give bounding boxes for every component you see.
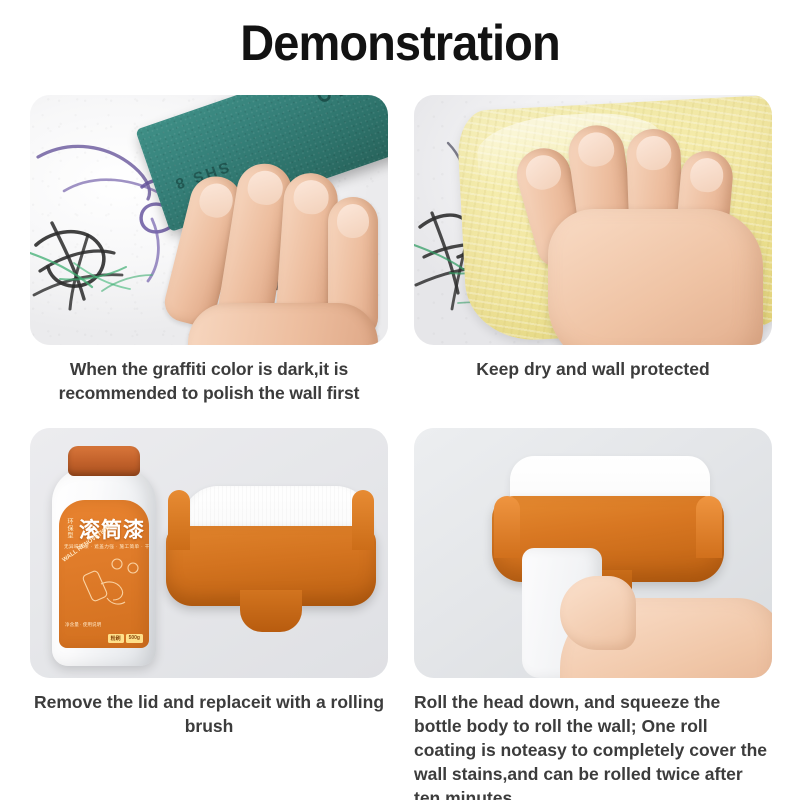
palm-icon xyxy=(188,303,378,345)
badge-type: 粉刷 xyxy=(108,634,124,643)
demo-grid: QBTAO SHS 8 When the graffiti color is d… xyxy=(0,95,800,728)
page-title: Demonstration xyxy=(24,14,776,72)
roller-arm-left-icon xyxy=(494,496,520,558)
demo-cell-bottle-roller: 环保型 滚筒漆 无异味环保 · 遮盖力强 · 施工简单 · 干燥快速 xyxy=(30,428,388,738)
photo-rolling xyxy=(414,428,772,678)
roller-arm-right-icon xyxy=(352,490,374,550)
bottle-label-icon: 环保型 滚筒漆 无异味环保 · 遮盖力强 · 施工简单 · 干燥快速 xyxy=(59,500,149,648)
roller-brush-icon xyxy=(166,486,376,646)
demonstration-page: Demonstration xyxy=(0,0,800,800)
hand-icon xyxy=(526,123,772,345)
label-side-text: 环保型 xyxy=(65,518,72,539)
fingernail-icon xyxy=(245,168,285,207)
photo-sanding: QBTAO SHS 8 xyxy=(30,95,388,345)
photo-bottle-roller: 环保型 滚筒漆 无异味环保 · 遮盖力强 · 施工简单 · 干燥快速 xyxy=(30,428,388,678)
bottle-cap-icon xyxy=(68,446,140,476)
hand-icon xyxy=(560,576,772,678)
demo-cell-rolling: Roll the head down, and squeeze the bott… xyxy=(414,428,772,800)
roller-arm-right-icon xyxy=(696,496,722,558)
label-badge-group: 粉刷 500g xyxy=(108,634,143,643)
palm-icon xyxy=(548,209,763,345)
fingernail-icon xyxy=(337,204,369,238)
badge-weight: 500g xyxy=(126,634,143,643)
fingernail-icon xyxy=(636,135,672,170)
fingernail-icon xyxy=(292,179,329,215)
demo-row-1: QBTAO SHS 8 When the graffiti color is d… xyxy=(0,95,800,385)
thumb-icon xyxy=(560,576,636,650)
roller-neck-icon xyxy=(240,590,302,632)
paint-bottle-icon: 环保型 滚筒漆 无异味环保 · 遮盖力强 · 施工简单 · 干燥快速 xyxy=(52,446,156,666)
fingernail-icon xyxy=(576,130,616,169)
caption-wiping: Keep dry and wall protected xyxy=(414,357,772,381)
fingernail-icon xyxy=(522,151,565,193)
caption-rolling: Roll the head down, and squeeze the bott… xyxy=(414,690,772,800)
photo-wiping xyxy=(414,95,772,345)
roller-arm-left-icon xyxy=(168,490,190,550)
label-footer-text: 净含量 · 使用说明 xyxy=(65,621,101,628)
label-illustration-icon xyxy=(63,554,145,618)
fingernail-icon xyxy=(196,180,237,221)
demo-row-2: 环保型 滚筒漆 无异味环保 · 遮盖力强 · 施工简单 · 干燥快速 xyxy=(0,428,800,728)
caption-sanding: When the graffiti color is dark,it is re… xyxy=(30,357,388,405)
demo-cell-wiping: Keep dry and wall protected xyxy=(414,95,772,381)
fingernail-icon xyxy=(689,157,725,194)
caption-bottle-roller: Remove the lid and replaceit with a roll… xyxy=(30,690,388,738)
hand-icon xyxy=(168,163,388,345)
demo-cell-sanding: QBTAO SHS 8 When the graffiti color is d… xyxy=(30,95,388,405)
